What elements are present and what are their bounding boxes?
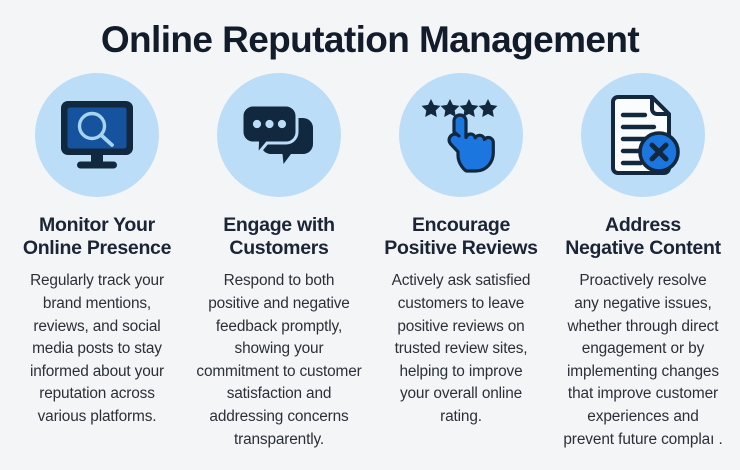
icon-circle-1 xyxy=(35,73,159,197)
page-title: Online Reputation Management xyxy=(0,0,740,61)
icon-circle-2 xyxy=(217,73,341,197)
star-rating-hand-icon xyxy=(420,97,502,173)
column-address-negative-content: Address Negative Content Proactively res… xyxy=(552,73,734,452)
document-x-icon xyxy=(605,95,681,175)
monitor-search-icon xyxy=(58,99,136,171)
speech-bubbles-icon xyxy=(239,101,319,169)
card-body-3: Actively ask satisfied customers to leav… xyxy=(392,270,531,428)
infographic-root: Online Reputation Management Monitor You… xyxy=(0,0,740,470)
column-encourage-positive-reviews: Encourage Positive Reviews Actively ask … xyxy=(370,73,552,429)
column-engage-with-customers: Engage with Customers Respond to both po… xyxy=(188,73,370,452)
card-heading-4: Address Negative Content xyxy=(565,214,721,262)
columns-container: Monitor Your Online Presence Regularly t… xyxy=(0,73,740,452)
card-heading-2: Engage with Customers xyxy=(223,214,335,262)
card-body-4: Proactively resolve any negative issues,… xyxy=(563,270,722,451)
icon-circle-4 xyxy=(581,73,705,197)
card-body-2: Respond to both positive and negative fe… xyxy=(196,270,361,451)
card-heading-1: Monitor Your Online Presence xyxy=(23,214,171,262)
card-body-1: Regularly track your brand mentions, rev… xyxy=(30,270,164,428)
column-monitor-online-presence: Monitor Your Online Presence Regularly t… xyxy=(6,73,188,429)
card-heading-3: Encourage Positive Reviews xyxy=(384,214,537,262)
icon-circle-3 xyxy=(399,73,523,197)
